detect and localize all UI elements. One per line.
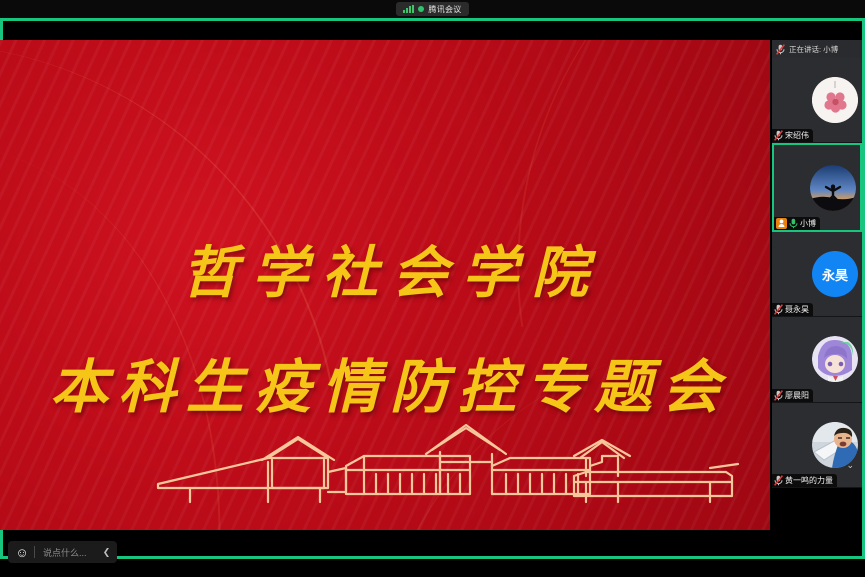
avatar bbox=[810, 165, 856, 211]
participant-name: 小博 bbox=[800, 218, 816, 229]
meeting-app-indicator[interactable]: 腾讯会议 bbox=[396, 2, 468, 16]
avatar: 永昊 bbox=[812, 251, 858, 297]
mic-muted-icon bbox=[774, 390, 783, 401]
mic-muted-icon bbox=[774, 304, 783, 315]
host-badge-icon bbox=[776, 218, 787, 229]
system-status-bar: 腾讯会议 bbox=[0, 0, 865, 18]
avatar bbox=[812, 77, 858, 123]
campus-building-illustration bbox=[150, 406, 740, 516]
signal-bars-icon bbox=[403, 5, 414, 13]
mic-on-icon bbox=[789, 218, 798, 229]
participant-name-badge: 廖晨阳 bbox=[772, 389, 813, 402]
app-name-label: 腾讯会议 bbox=[428, 4, 461, 15]
slide-title-line-1: 哲学社会学院 bbox=[0, 228, 770, 309]
participant-filmstrip[interactable]: 正在讲话: 小博 bbox=[772, 40, 862, 488]
participant-name-badge: 小博 bbox=[774, 217, 820, 230]
recording-status-dot bbox=[418, 6, 424, 12]
mic-muted-icon bbox=[774, 130, 783, 141]
meeting-window: 腾讯会议 哲学社会学院 本科生疫情防控专题会 bbox=[0, 0, 865, 577]
participant-name-badge: 宋绍伟 bbox=[772, 129, 813, 142]
participant-tile[interactable]: 黄一鸣的力量 ⌄ bbox=[772, 403, 862, 488]
participant-tile[interactable]: 廖晨阳 bbox=[772, 317, 862, 402]
active-speaker-banner: 正在讲话: 小博 bbox=[772, 40, 862, 58]
participant-name: 聂永昊 bbox=[785, 304, 809, 315]
smiley-icon[interactable]: ☺ bbox=[10, 541, 34, 563]
participant-name-badge: 聂永昊 bbox=[772, 303, 813, 316]
participant-name-badge: 黄一鸣的力量 bbox=[772, 474, 837, 487]
chevron-left-icon[interactable]: ❮ bbox=[99, 541, 115, 563]
avatar-initials: 永昊 bbox=[822, 265, 848, 284]
participant-name: 宋绍伟 bbox=[785, 130, 809, 141]
shared-slide: 哲学社会学院 本科生疫情防控专题会 bbox=[0, 40, 770, 530]
participant-tile[interactable]: 小博 bbox=[772, 143, 862, 231]
chat-input-bar[interactable]: ☺ 说点什么... ❮ bbox=[8, 541, 117, 563]
participant-name: 黄一鸣的力量 bbox=[785, 475, 833, 486]
active-speaker-label: 正在讲话: 小博 bbox=[789, 44, 838, 55]
mic-muted-icon bbox=[776, 44, 785, 55]
participant-name: 廖晨阳 bbox=[785, 390, 809, 401]
chevron-down-icon[interactable]: ⌄ bbox=[846, 460, 854, 471]
chat-input-field[interactable]: 说点什么... bbox=[35, 546, 99, 559]
mic-muted-icon bbox=[774, 475, 783, 486]
participant-tile[interactable]: 永昊 聂永昊 bbox=[772, 232, 862, 317]
participant-tile[interactable]: 宋绍伟 bbox=[772, 58, 862, 143]
avatar bbox=[812, 336, 858, 382]
